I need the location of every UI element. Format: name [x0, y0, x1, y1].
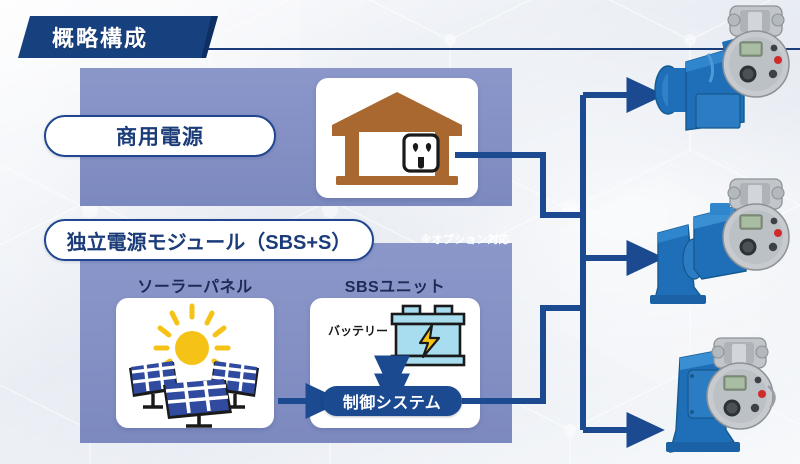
solar-panel-caption: ソーラーパネル: [116, 273, 274, 297]
blue-pump-actuator-icon: [648, 2, 800, 142]
pump-actuator-1: [648, 2, 800, 142]
header-tab: 概略構成: [18, 16, 218, 58]
independent-power-module-label: 独立電源モジュール（SBS+S）: [44, 219, 374, 261]
solar-panel-card: [116, 298, 274, 428]
option-note: ※オプション対応: [380, 231, 510, 247]
blue-pump-actuator-icon: [648, 175, 800, 315]
blue-pump-actuator-icon: [648, 330, 800, 462]
grid-power-label: 商用電源: [44, 115, 276, 157]
warehouse-outlet-icon: [316, 78, 478, 198]
sbs-unit-caption: SBSユニット: [310, 273, 480, 297]
pump-actuator-2: [648, 175, 800, 315]
page-title: 概略構成: [52, 21, 148, 53]
grid-power-card: [316, 78, 478, 198]
control-system-box: 制御システム: [322, 386, 462, 416]
solar-panel-icon: [116, 298, 274, 428]
battery-label: バッテリー: [318, 322, 388, 339]
diagram-canvas: 概略構成: [0, 0, 800, 464]
header-tab-shade: [190, 16, 218, 58]
pump-actuator-3: [648, 330, 800, 462]
